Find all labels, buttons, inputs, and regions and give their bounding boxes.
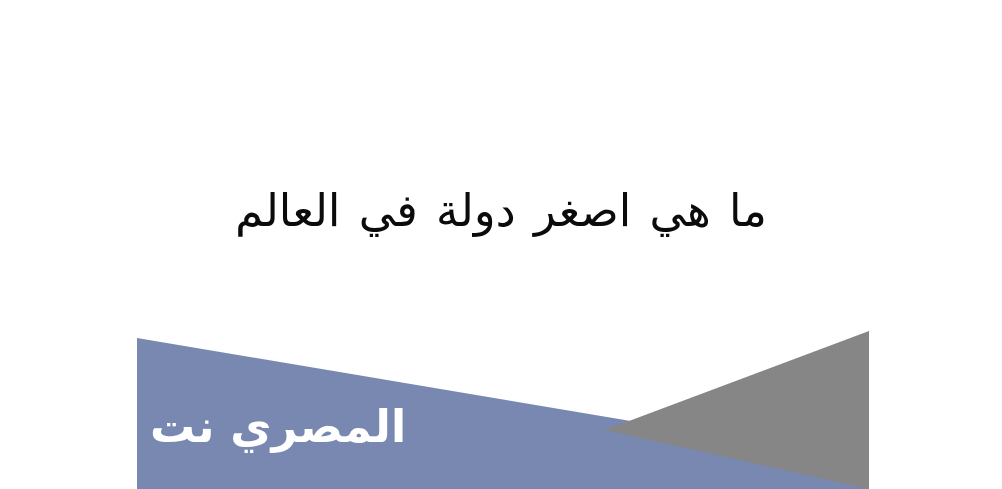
brand-name-label: المصري نت (150, 399, 406, 455)
thumbnail-canvas: ما هي اصغر دولة في العالم المصري نت (0, 0, 1002, 489)
brand-watermark: المصري نت (150, 399, 406, 455)
page-title: ما هي اصغر دولة في العالم (235, 178, 767, 243)
title-block: ما هي اصغر دولة في العالم (0, 178, 1002, 243)
gray-wedge-shape (605, 331, 869, 489)
